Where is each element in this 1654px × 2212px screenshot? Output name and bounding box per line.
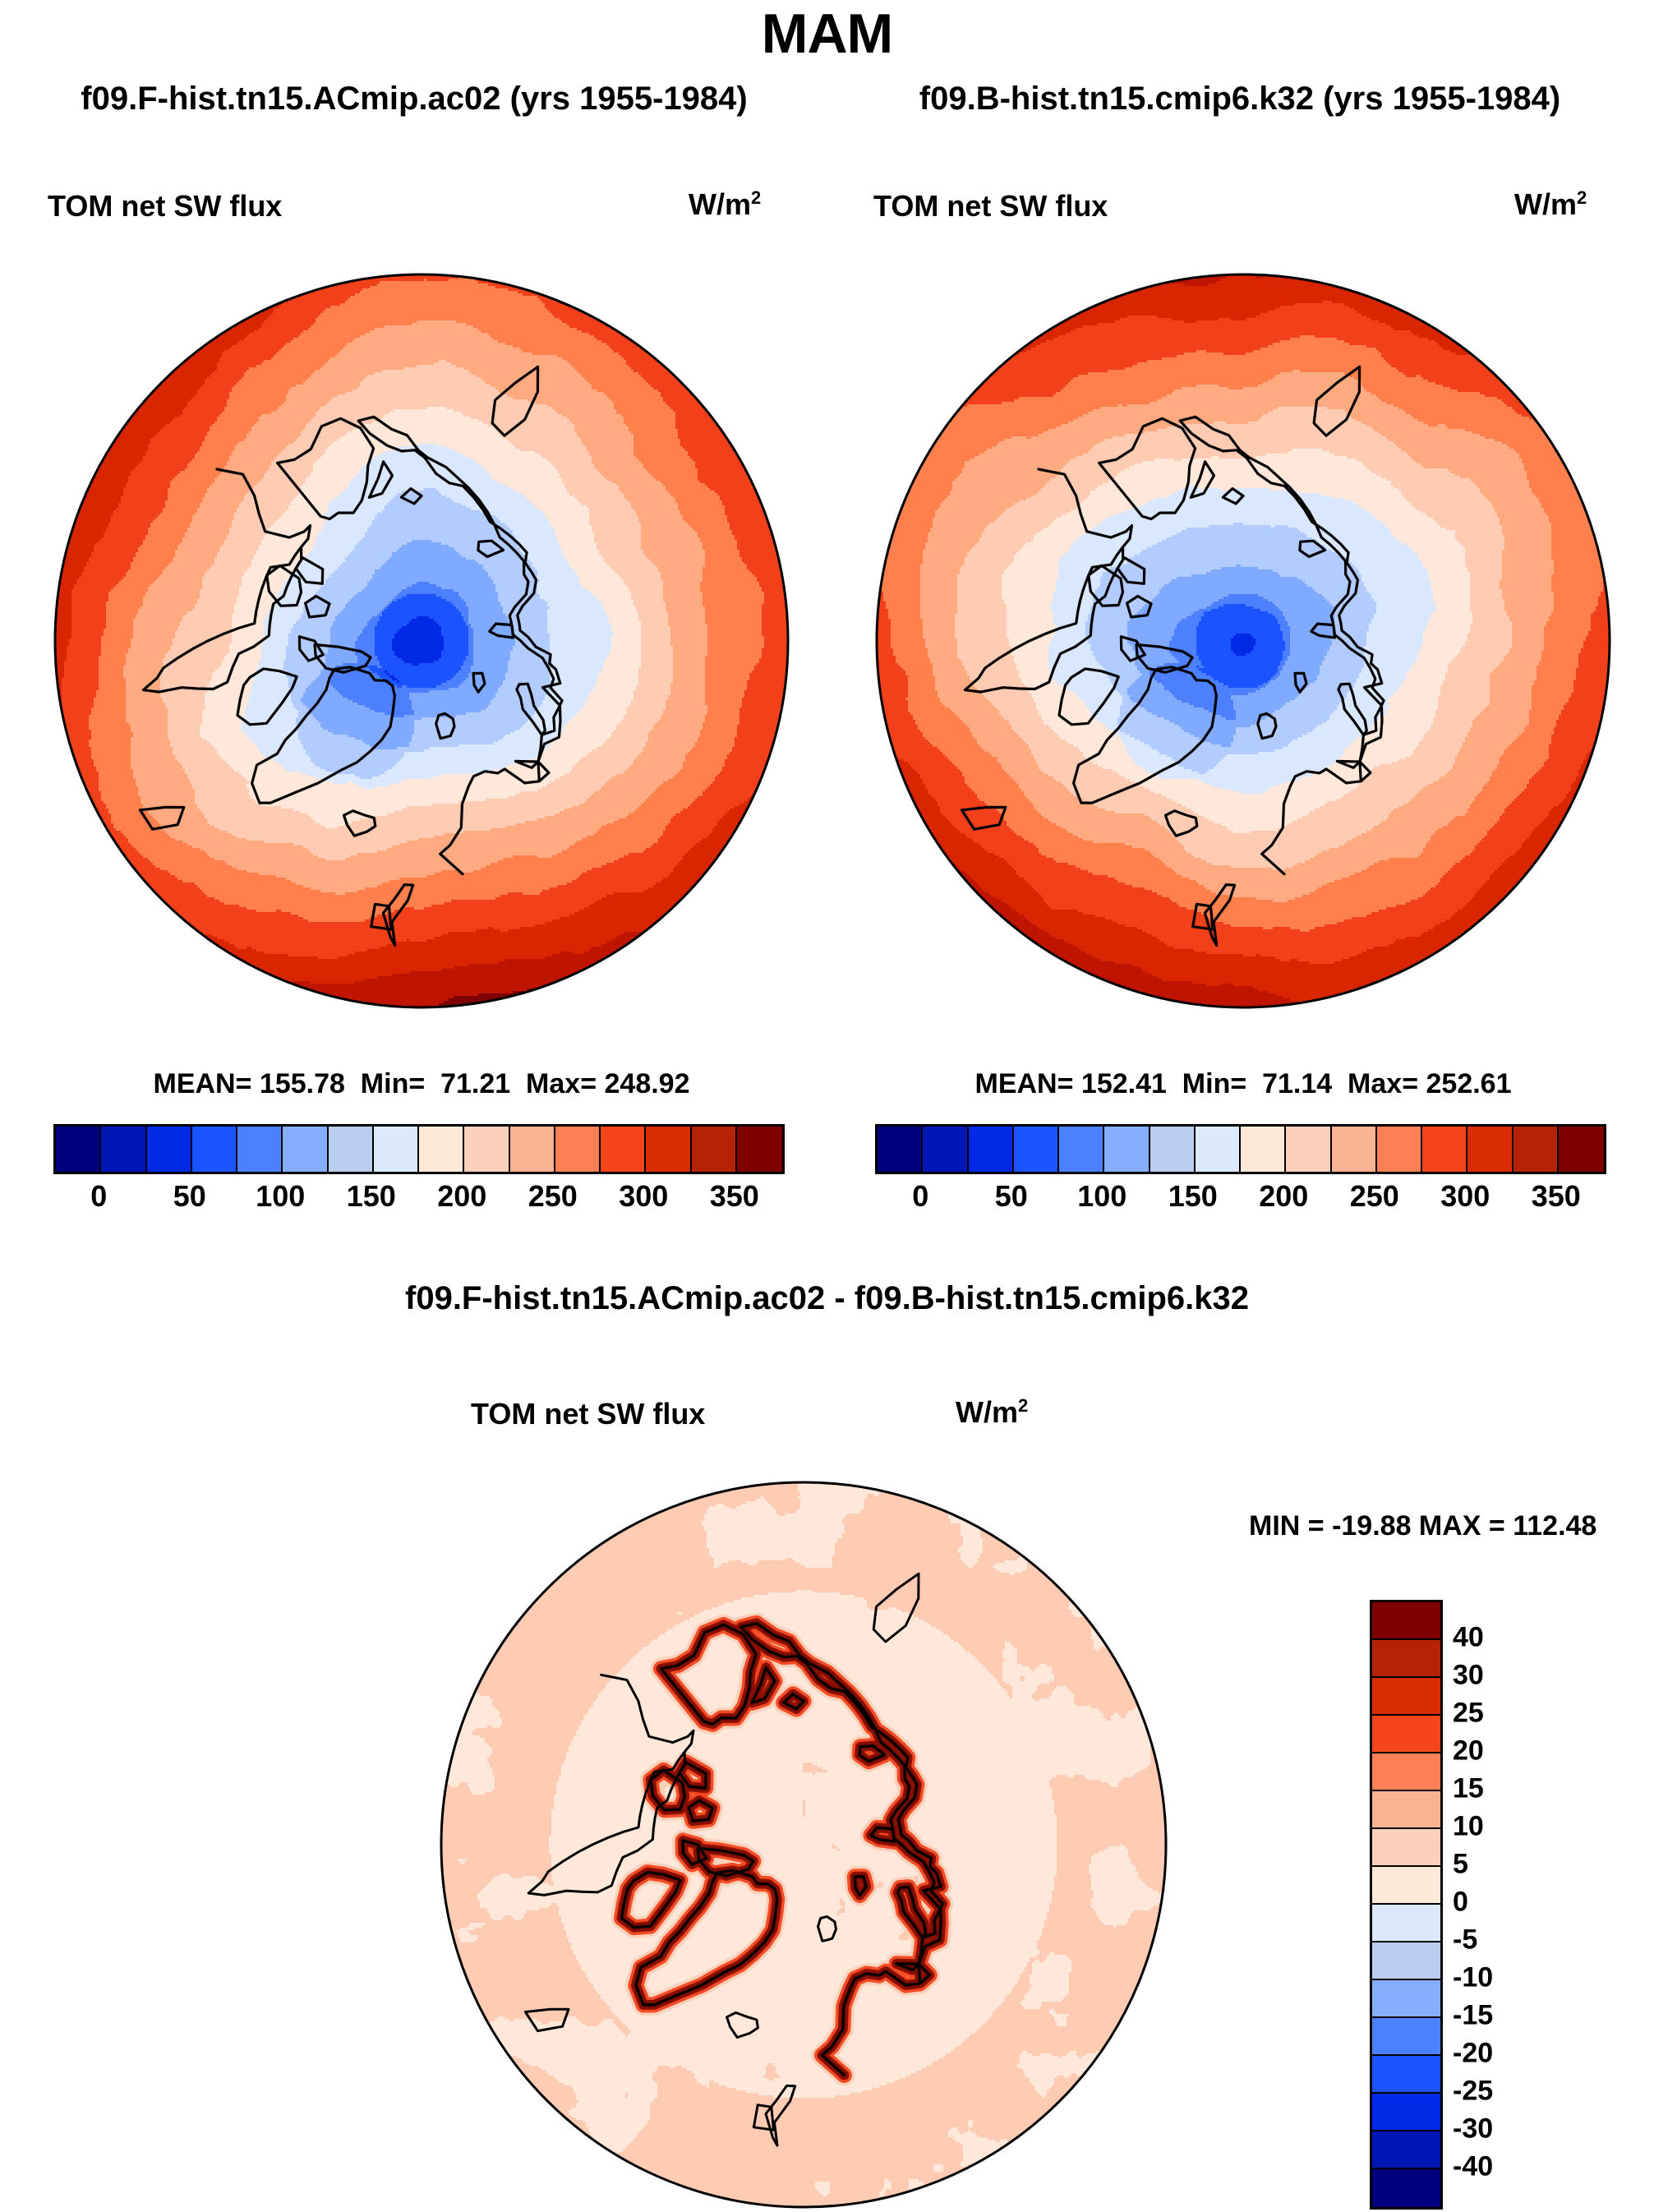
right-panel-stats: MEAN= 152.41 Min= 71.14 Max= 252.61 (873, 1068, 1613, 1100)
colorbar-cell (692, 1127, 737, 1172)
colorbar-cell (1372, 1716, 1440, 1753)
colorbar-cell (1372, 1678, 1440, 1716)
map-diff-contours (438, 1479, 1169, 2210)
colorbar-tick-label: -5 (1453, 1924, 1551, 1956)
colorbar-tick-label: 150 (1168, 1179, 1218, 1214)
right-panel-variable-label: TOM net SW flux (873, 189, 1108, 224)
diff-units-exponent: 2 (1018, 1395, 1028, 1416)
colorbar-tick-label: 0 (912, 1179, 928, 1214)
colorbar-cell (1372, 2056, 1440, 2094)
colorbar-tick-label: 30 (1453, 1660, 1551, 1692)
colorbar-cell (1372, 2169, 1440, 2207)
colorbar-cell (283, 1127, 328, 1172)
colorbar-cell (1196, 1127, 1241, 1172)
map-left-contours (52, 271, 791, 1011)
colorbar-cell (1372, 1640, 1440, 1678)
right-units-exponent: 2 (1577, 187, 1587, 208)
case-title-left: f09.F-hist.tn15.ACmip.ac02 (yrs 1955-198… (2, 81, 827, 118)
colorbar-cell (101, 1127, 146, 1172)
right-colorbar[interactable] (875, 1124, 1606, 1174)
colorbar-tick-label: 250 (1350, 1179, 1399, 1214)
map-left-polar-projection (52, 271, 791, 1011)
colorbar-cell (1372, 1980, 1440, 2018)
colorbar-cell (1014, 1127, 1059, 1172)
colorbar-cell (1372, 2131, 1440, 2169)
left-panel-units-label: W/m2 (689, 187, 761, 222)
colorbar-cell (1150, 1127, 1196, 1172)
colorbar-cell (1559, 1127, 1604, 1172)
diff-units-text: W/m (956, 1395, 1018, 1429)
colorbar-cell (1104, 1127, 1150, 1172)
colorbar-tick-label: 10 (1453, 1811, 1551, 1843)
colorbar-tick-label: 250 (528, 1179, 578, 1214)
colorbar-cell (646, 1127, 691, 1172)
colorbar-cell (56, 1127, 101, 1172)
case-titles-row: f09.F-hist.tn15.ACmip.ac02 (yrs 1955-198… (0, 81, 1654, 118)
colorbar-cell (737, 1127, 782, 1172)
colorbar-tick-label: 200 (1259, 1179, 1308, 1214)
left-units-text: W/m (689, 187, 751, 221)
colorbar-cell (374, 1127, 419, 1172)
colorbar-tick-label: 25 (1453, 1698, 1551, 1730)
colorbar-cell (1059, 1127, 1104, 1172)
difference-colorbar[interactable] (1370, 1600, 1443, 2210)
colorbar-cell (1372, 2018, 1440, 2056)
diff-panel-units-label: W/m2 (956, 1395, 1028, 1430)
left-panel-stats: MEAN= 155.78 Min= 71.21 Max= 248.92 (52, 1068, 791, 1100)
colorbar-cell (464, 1127, 509, 1172)
colorbar-cell (1377, 1127, 1422, 1172)
colorbar-cell (1241, 1127, 1286, 1172)
page-title: MAM (0, 2, 1654, 66)
left-units-exponent: 2 (751, 187, 761, 208)
colorbar-tick-label: 15 (1453, 1773, 1551, 1805)
colorbar-tick-label: 50 (995, 1179, 1028, 1214)
diff-minmax-label: MIN = -19.88 MAX = 112.48 (1249, 1510, 1596, 1542)
left-colorbar-ticklabels: 050100150200250300350 (53, 1179, 780, 1217)
colorbar-tick-label: 100 (256, 1179, 305, 1214)
colorbar-tick-label: -10 (1453, 1962, 1551, 1994)
colorbar-cell (1422, 1127, 1467, 1172)
colorbar-cell (1372, 1602, 1440, 1640)
colorbar-tick-label: 300 (1440, 1179, 1490, 1214)
colorbar-tick-label: 0 (90, 1179, 107, 1214)
colorbar-cell (329, 1127, 374, 1172)
colorbar-cell (878, 1127, 923, 1172)
left-colorbar[interactable] (53, 1124, 785, 1174)
colorbar-tick-label: -40 (1453, 2151, 1551, 2183)
colorbar-cell (1372, 1905, 1440, 1942)
colorbar-cell (1372, 1829, 1440, 1867)
colorbar-tick-label: 50 (173, 1179, 206, 1214)
colorbar-tick-label: 350 (710, 1179, 759, 1214)
colorbar-cell (1513, 1127, 1559, 1172)
colorbar-tick-label: 300 (619, 1179, 668, 1214)
colorbar-cell (1286, 1127, 1331, 1172)
difference-title: f09.F-hist.tn15.ACmip.ac02 - f09.B-hist.… (0, 1280, 1654, 1317)
colorbar-cell (1372, 2094, 1440, 2131)
colorbar-cell (601, 1127, 646, 1172)
right-panel-units-label: W/m2 (1514, 187, 1587, 222)
colorbar-tick-label: 150 (347, 1179, 396, 1214)
colorbar-tick-label: -15 (1453, 2000, 1551, 2032)
colorbar-cell (192, 1127, 237, 1172)
colorbar-cell (1332, 1127, 1377, 1172)
colorbar-tick-label: -20 (1453, 2038, 1551, 2070)
colorbar-cell (510, 1127, 555, 1172)
colorbar-cell (555, 1127, 601, 1172)
map-right-polar-projection (873, 271, 1613, 1011)
colorbar-tick-label: 0 (1453, 1887, 1551, 1919)
colorbar-cell (969, 1127, 1014, 1172)
right-units-text: W/m (1514, 187, 1577, 221)
left-panel-variable-label: TOM net SW flux (48, 189, 282, 224)
colorbar-tick-label: 100 (1077, 1179, 1126, 1214)
right-colorbar-ticklabels: 050100150200250300350 (875, 1179, 1601, 1217)
colorbar-cell (419, 1127, 464, 1172)
map-right-contours (873, 271, 1613, 1011)
colorbar-cell (1372, 1942, 1440, 1980)
diff-panel-variable-label: TOM net SW flux (471, 1397, 705, 1431)
colorbar-cell (1372, 1753, 1440, 1791)
case-title-right: f09.B-hist.tn15.cmip6.k32 (yrs 1955-1984… (827, 81, 1653, 118)
map-difference-polar-projection (438, 1479, 1169, 2210)
colorbar-cell (1372, 1867, 1440, 1905)
colorbar-cell (923, 1127, 968, 1172)
colorbar-cell (1467, 1127, 1513, 1172)
colorbar-tick-label: 200 (437, 1179, 486, 1214)
colorbar-cell (237, 1127, 283, 1172)
colorbar-tick-label: 20 (1453, 1735, 1551, 1767)
colorbar-tick-label: -30 (1453, 2113, 1551, 2145)
colorbar-tick-label: 40 (1453, 1622, 1551, 1654)
colorbar-tick-label: 5 (1453, 1849, 1551, 1881)
colorbar-cell (147, 1127, 192, 1172)
colorbar-cell (1372, 1791, 1440, 1829)
colorbar-tick-label: 350 (1532, 1179, 1581, 1214)
colorbar-tick-label: -25 (1453, 2076, 1551, 2108)
